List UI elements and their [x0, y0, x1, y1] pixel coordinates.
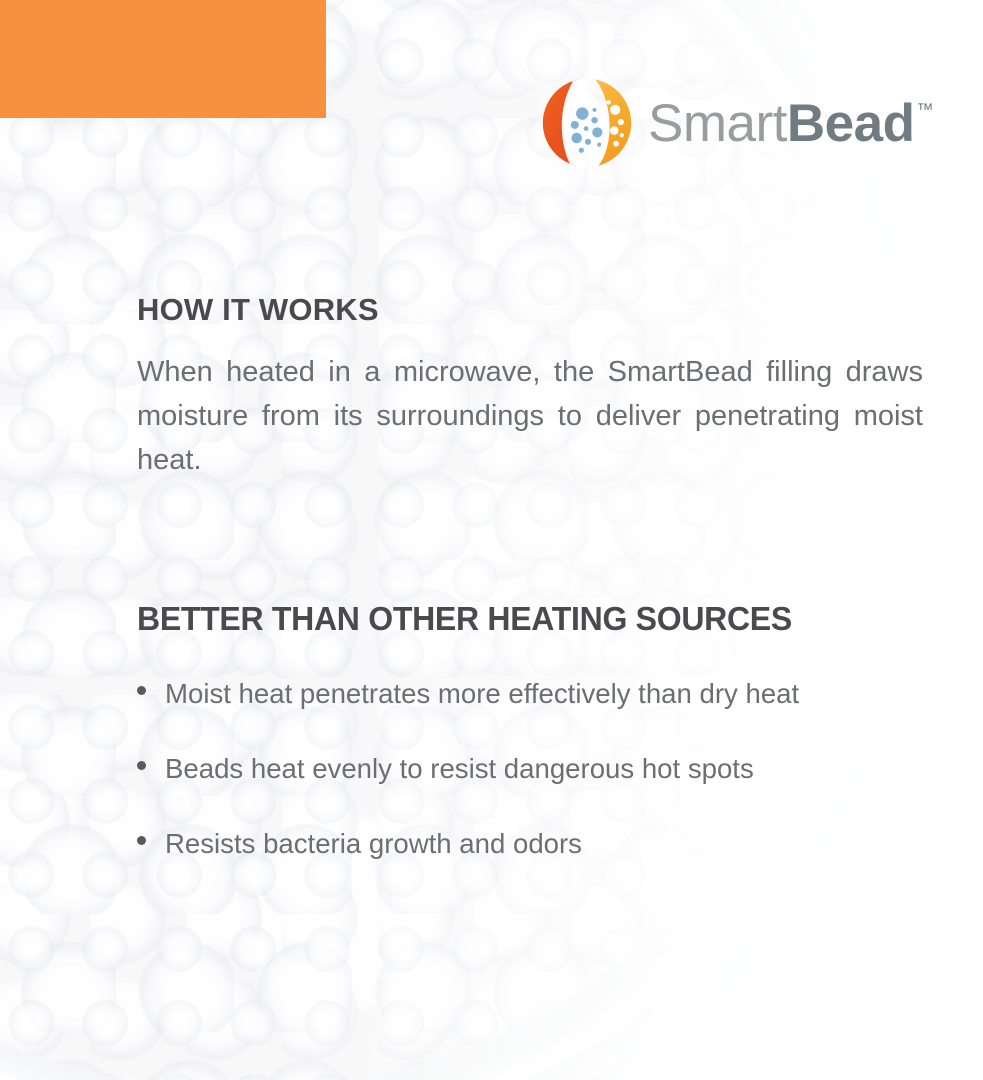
bullet-icon	[137, 761, 146, 770]
benefits-section: BETTER THAN OTHER HEATING SOURCES Moist …	[137, 600, 983, 861]
content-column: HOW IT WORKS When heated in a microwave,…	[137, 292, 983, 901]
trademark-symbol: ™	[916, 101, 933, 118]
list-item: Resists bacteria growth and odors	[137, 826, 983, 861]
list-item-label: Resists bacteria growth and odors	[165, 826, 582, 861]
wordmark-smart: Smart	[648, 97, 787, 150]
list-item-label: Beads heat evenly to resist dangerous ho…	[165, 751, 754, 786]
wordmark-bead: Bead	[787, 97, 915, 150]
better-than-other-heating-sources-heading: BETTER THAN OTHER HEATING SOURCES	[137, 600, 958, 638]
benefits-list: Moist heat penetrates more effectively t…	[137, 676, 983, 861]
list-item: Moist heat penetrates more effectively t…	[137, 676, 983, 711]
how-it-works-heading: HOW IT WORKS	[137, 292, 983, 328]
list-item-label: Moist heat penetrates more effectively t…	[165, 676, 799, 711]
list-item: Beads heat evenly to resist dangerous ho…	[137, 751, 983, 786]
brand-logo-lockup: Smart Bead ™	[540, 76, 933, 170]
how-it-works-paragraph: When heated in a microwave, the SmartBea…	[137, 350, 923, 482]
bullet-icon	[137, 686, 146, 695]
bullet-icon	[137, 836, 146, 845]
water-droplet-circle-icon	[540, 76, 634, 170]
product-infographic-page: Smart Bead ™ HOW IT WORKS When heated in…	[0, 0, 983, 1080]
orange-accent-block	[0, 0, 326, 118]
brand-wordmark: Smart Bead ™	[648, 97, 933, 150]
